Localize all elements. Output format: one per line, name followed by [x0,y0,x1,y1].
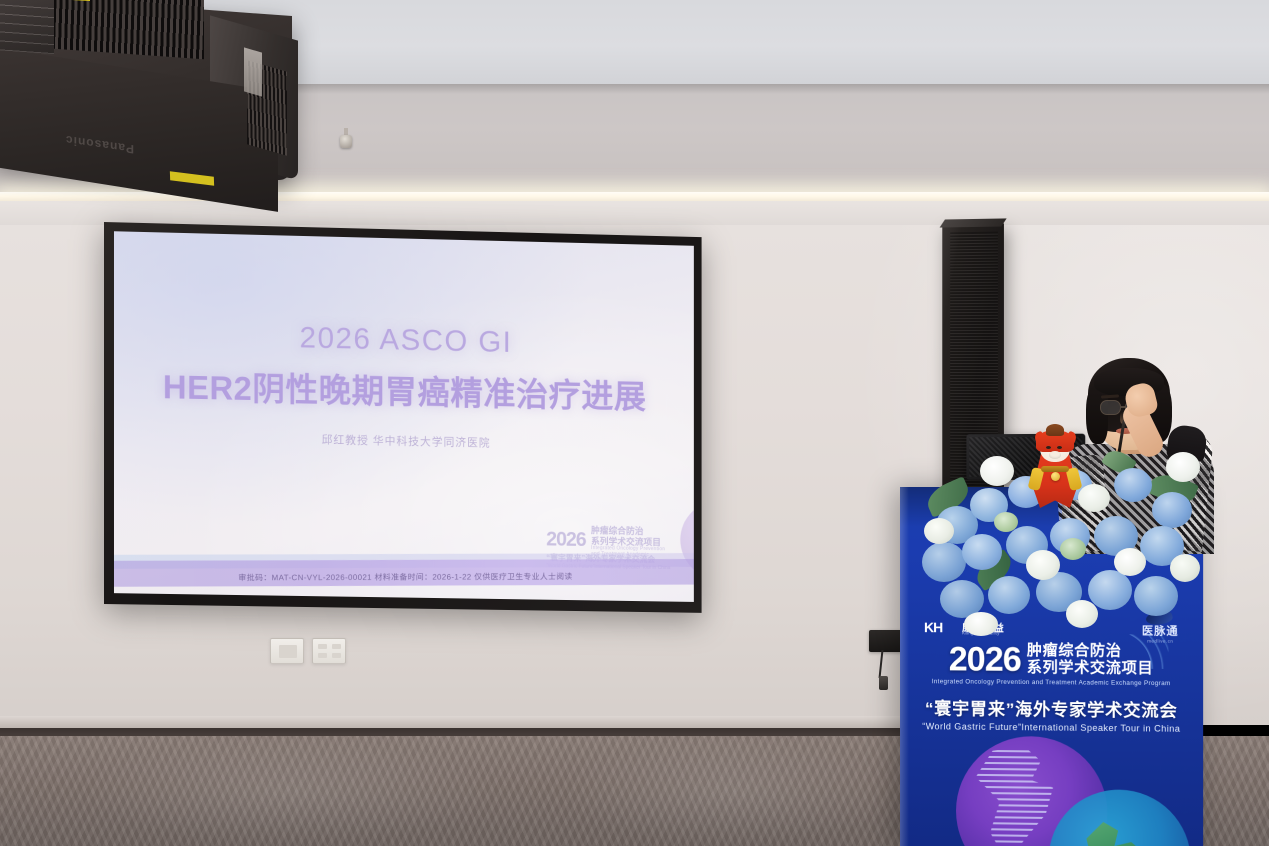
slide-subtitle: 邱红教授 华中科技大学同济医院 [114,427,694,454]
person-glasses-left-lens [1100,400,1121,415]
banner-text-block: 2026 肿瘤综合防治 系列学术交流项目 Integrated Oncology… [900,642,1203,734]
rose-white [1078,484,1110,512]
banner-year: 2026 [949,643,1021,676]
projection-screen-frame: 2026 ASCO GI HER2阴性晚期胃癌精准治疗进展 邱红教授 华中科技大… [104,222,702,613]
slide-logo-year: 2026 [546,529,585,552]
floor-highlight [80,736,500,846]
slide-footer-text: 审批码：MAT-CN-VYL-2026-00021 材料准备时间：2026-1-… [114,571,694,584]
projection-screen: 2026 ASCO GI HER2阴性晚期胃癌精准治疗进展 邱红教授 华中科技大… [114,231,694,602]
hydrangea-blue [1088,570,1132,610]
wall-power-socket[interactable] [270,638,304,664]
projector-label-sticker [244,47,262,96]
banner-cn-line3: “寰宇胃来”海外专家学术交流会 [900,694,1203,722]
green-bloom [994,512,1018,532]
banner-cn-line1: 肿瘤综合防治 [1027,643,1154,661]
mascot-right-eye [1057,446,1062,449]
hydrangea-blue [962,534,1002,570]
banner-en-line1: Integrated Oncology Prevention and Treat… [900,678,1203,687]
hydrangea-blue [1114,468,1152,502]
hydrangea-blue [988,576,1030,614]
ceiling-projector: Panasonic [0,0,298,192]
rose-white [924,518,954,544]
wall-control-panel[interactable] [312,638,346,664]
projector-ports [0,0,54,54]
rose-white [1166,452,1200,482]
hydrangea-blue [1134,576,1178,616]
projector-vent-grille [54,0,204,59]
green-bloom [1060,538,1086,560]
rose-white [1066,600,1098,628]
floor-highlight-2 [560,736,900,846]
banner-en-line2: “World Gastric Future”International Spea… [900,721,1203,734]
slide-title-block: 2026 ASCO GI HER2阴性晚期胃癌精准治疗进展 [114,317,694,419]
horse-mascot-doll [1032,428,1078,510]
rose-white [980,456,1014,486]
slide-title-line1: 2026 ASCO GI [114,317,694,364]
conference-room-photo: Panasonic 2026 ASCO GI HER2阴性晚期胃癌精准治疗进展 … [0,0,1269,846]
mascot-snout [1049,451,1061,459]
banner-cn-line2: 系列学术交流项目 [1027,660,1154,678]
rose-white [1026,550,1060,580]
sprinkler-head-icon [340,128,352,150]
hydrangea-blue [1152,492,1192,528]
rose-white [1114,548,1146,576]
rose-white [1170,554,1200,582]
slide-title-line2: HER2阴性晚期胃癌精准治疗进展 [114,359,694,419]
mascot-left-eye [1046,446,1051,449]
rose-white [964,612,998,636]
mascot-bell-icon [1051,472,1060,481]
mascot-mane [1046,424,1064,436]
hydrangea-blue [922,542,966,582]
cable-connector [879,676,888,690]
